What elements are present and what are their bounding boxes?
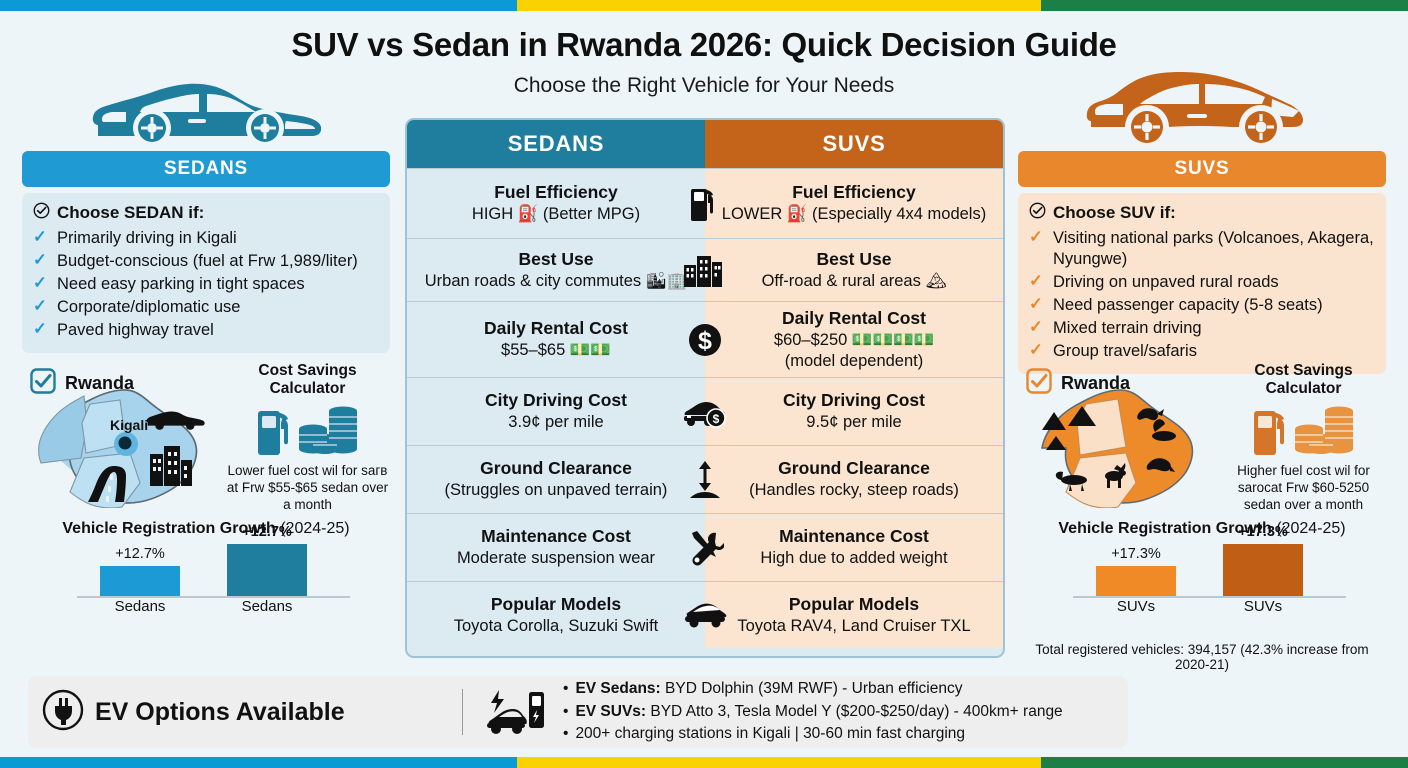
bar-value-label: +17.3% [1111, 546, 1161, 562]
ev-details-list: •EV Sedans: BYD Dolphin (39M RWF) - Urba… [563, 678, 1063, 747]
check-icon: ✓ [1029, 228, 1045, 248]
sedan-panel-body: Choose SEDAN if: ✓Primarily driving in K… [22, 193, 390, 353]
list-item: •200+ charging stations in Kigali | 30-6… [563, 723, 1063, 746]
table-cell-sedan: Best Use Urban roads & city commutes 🏙🏢 [407, 239, 705, 301]
table-cell-sedan: Maintenance Cost Moderate suspension wea… [407, 514, 705, 581]
ev-banner-divider [462, 689, 463, 735]
table-row: Fuel Efficiency HIGH ⛽ (Better MPG) Fuel… [407, 168, 1003, 238]
bullet-text: Primarily driving in Kigali [57, 228, 237, 249]
fuel-pump-icon [678, 180, 732, 228]
row-value: 9.5¢ per mile [806, 412, 901, 432]
row-label: Maintenance Cost [481, 526, 631, 547]
table-cell-suv: Maintenance Cost High due to added weigh… [705, 514, 1003, 581]
chart-title: Vehicle Registration Growth (2024-25) [1018, 520, 1386, 538]
calc-title-line1: Cost Savings [1221, 362, 1386, 380]
list-item: ✓Driving on unpaved rural roads [1029, 271, 1375, 294]
list-item: •EV SUVs: BYD Atto 3, Tesla Model Y ($20… [563, 701, 1063, 724]
suv-illustration [1018, 58, 1386, 151]
svg-text:$: $ [698, 327, 712, 355]
list-item: ✓Need easy parking in tight spaces [33, 273, 379, 296]
list-item: ✓Paved highway travel [33, 319, 379, 342]
table-row: City Driving Cost 3.9¢ per mile $ City D… [407, 377, 1003, 445]
bullet-text: Need easy parking in tight spaces [57, 274, 305, 295]
suv-choose-title: Choose SUV if: [1053, 203, 1176, 223]
sedan-registration-growth-chart: Vehicle Registration Growth (2024-25) +1… [22, 520, 390, 620]
row-value: $60–$250 💵💵💵💵 (model dependent) [774, 330, 934, 370]
calc-title-line2: Calculator [1221, 380, 1386, 398]
list-item: ✓Mixed terrain driving [1029, 317, 1375, 340]
row-value: Off-road & rural areas 🏔 [762, 271, 947, 291]
bullet-text: Visiting national parks (Volcanoes, Akag… [1053, 228, 1375, 270]
circle-check-icon [1029, 202, 1046, 224]
chart-plot-area: +17.3% SUVs +17.3% SUVs [1018, 542, 1386, 620]
table-cell-sedan: Ground Clearance (Struggles on unpaved t… [407, 446, 705, 513]
row-label: Daily Rental Cost [484, 318, 628, 339]
bullet-dot-icon: • [563, 678, 568, 701]
check-icon: ✓ [33, 251, 49, 271]
bullet-text: Group travel/safaris [1053, 341, 1197, 362]
bullet-dot-icon: • [563, 701, 568, 724]
check-icon: ✓ [1029, 341, 1045, 361]
check-icon: ✓ [1029, 295, 1045, 315]
check-icon: ✓ [1029, 318, 1045, 338]
table-cell-suv: Fuel Efficiency LOWER ⛽ (Especially 4x4 … [705, 169, 1003, 238]
row-label: Daily Rental Cost [782, 308, 926, 329]
bar-suvs-1: +17.3% SUVs [1096, 566, 1176, 596]
list-item: ✓Corporate/diplomatic use [33, 296, 379, 319]
table-row: Best Use Urban roads & city commutes 🏙🏢 … [407, 238, 1003, 301]
row-value: Toyota RAV4, Land Cruiser TXL [737, 616, 970, 636]
row-value: (Handles rocky, steep roads) [749, 480, 959, 500]
bar-suvs-2: +17.3% SUVs [1223, 544, 1303, 596]
list-item: •EV Sedans: BYD Dolphin (39M RWF) - Urba… [563, 678, 1063, 701]
ev-options-banner: EV Options Available •EV Sedans: BYD Dol… [28, 676, 1128, 748]
table-row: Popular Models Toyota Corolla, Suzuki Sw… [407, 581, 1003, 648]
flag-stripe-green [1041, 0, 1408, 11]
flag-stripe-yellow [517, 0, 1041, 11]
column-header-sedans: SEDANS [407, 120, 705, 168]
table-cell-sedan: City Driving Cost 3.9¢ per mile [407, 378, 705, 445]
ground-clearance-arrow-icon [678, 456, 732, 504]
row-label: Ground Clearance [480, 458, 632, 479]
table-cell-suv: Daily Rental Cost $60–$250 💵💵💵💵 (model d… [705, 302, 1003, 377]
bar-category-label: Sedans [115, 598, 166, 615]
table-cell-suv: Ground Clearance (Handles rocky, steep r… [705, 446, 1003, 513]
tools-icon [678, 524, 732, 572]
list-item: ✓Need passenger capacity (5-8 seats) [1029, 294, 1375, 317]
sedan-choose-heading: Choose SEDAN if: [33, 202, 379, 224]
suv-registration-growth-chart: Vehicle Registration Growth (2024-25) +1… [1018, 520, 1386, 672]
row-label: City Driving Cost [783, 390, 925, 411]
bar-value-label: +12.7% [242, 524, 292, 540]
bullet-dot-icon: • [563, 723, 568, 746]
fuel-pump-icon [256, 405, 296, 457]
row-label: Best Use [519, 249, 594, 270]
table-row: Maintenance Cost Moderate suspension wea… [407, 513, 1003, 581]
list-item: ✓Budget-conscious (fuel at Frw 1,989/lit… [33, 250, 379, 273]
row-value: (Struggles on unpaved terrain) [445, 480, 668, 500]
row-value: HIGH ⛽ (Better MPG) [472, 204, 640, 224]
comparison-table: SEDANS SUVS Fuel Efficiency HIGH ⛽ (Bett… [405, 118, 1005, 658]
svg-text:$: $ [713, 412, 720, 426]
chart-title: Vehicle Registration Growth (2024-25) [22, 520, 390, 538]
list-item: ✓Group travel/safaris [1029, 340, 1375, 363]
chart-footnote: Total registered vehicles: 394,157 (42.3… [1018, 642, 1386, 672]
circle-check-icon [33, 202, 50, 224]
bullet-text: Corporate/diplomatic use [57, 297, 240, 318]
table-header-row: SEDANS SUVS [407, 120, 1003, 168]
ev-line-text: BYD Dolphin (39M RWF) - Urban efficiency [661, 680, 963, 697]
infographic-canvas: SUV vs Sedan in Rwanda 2026: Quick Decis… [0, 0, 1408, 768]
table-cell-suv: Best Use Off-road & rural areas 🏔 [705, 239, 1003, 301]
row-value: LOWER ⛽ (Especially 4x4 models) [722, 204, 986, 224]
ev-line-text: 200+ charging stations in Kigali | 30-60… [575, 725, 965, 742]
table-cell-sedan: Fuel Efficiency HIGH ⛽ (Better MPG) [407, 169, 705, 238]
ev-plug-icon [42, 689, 84, 736]
table-cell-suv: City Driving Cost 9.5¢ per mile [705, 378, 1003, 445]
calc-icon-group [1221, 402, 1386, 460]
suv-bullet-list: ✓Visiting national parks (Volcanoes, Aka… [1029, 227, 1375, 363]
ev-line-label: EV SUVs: [575, 703, 646, 720]
table-cell-sedan: Daily Rental Cost $55–$65 💵💵 [407, 302, 705, 377]
sedan-illustration [22, 58, 390, 151]
bullet-text: Paved highway travel [57, 320, 214, 341]
bullet-text: Need passenger capacity (5-8 seats) [1053, 295, 1323, 316]
suv-cost-savings-calculator: Cost Savings Calculator [1221, 362, 1386, 513]
ev-line-text: BYD Atto 3, Tesla Model Y ($200-$250/day… [646, 703, 1063, 720]
sedan-map-calculator-block: Rwanda Kigali [22, 362, 390, 512]
row-value: Urban roads & city commutes 🏙🏢 [425, 271, 688, 291]
ev-banner-title: EV Options Available [95, 698, 345, 727]
ev-banner-title-group: EV Options Available [42, 689, 462, 736]
bar-category-label: SUVs [1117, 598, 1155, 615]
row-label: Maintenance Cost [779, 526, 929, 547]
bar-category-label: Sedans [242, 598, 293, 615]
flag-stripe-blue [0, 757, 517, 768]
bar-value-label: +17.3% [1238, 524, 1288, 540]
suv-panel-header: SUVS [1018, 151, 1386, 187]
bullet-text: Driving on unpaved rural roads [1053, 272, 1279, 293]
bar-sedans-2: +12.7% Sedans [227, 544, 307, 596]
row-value: $55–$65 💵💵 [501, 340, 611, 360]
dollar-coin-icon: $ [678, 316, 732, 364]
coin-stack-icon [1294, 405, 1356, 457]
row-label: Fuel Efficiency [494, 182, 618, 203]
bar-category-label: SUVs [1244, 598, 1282, 615]
row-label: City Driving Cost [485, 390, 627, 411]
sedan-panel-header: SEDANS [22, 151, 390, 187]
coin-stack-icon [298, 405, 360, 457]
city-buildings-icon [678, 246, 732, 294]
check-icon: ✓ [33, 274, 49, 294]
car-icon [678, 591, 732, 639]
calc-title-line2: Calculator [225, 380, 390, 398]
list-item: ✓Primarily driving in Kigali [33, 227, 379, 250]
suv-map-calculator-block: Rwanda [1018, 362, 1386, 512]
list-item: ✓Visiting national parks (Volcanoes, Aka… [1029, 227, 1375, 271]
bar-sedans-1: +12.7% Sedans [100, 566, 180, 596]
bullet-text: Budget-conscious (fuel at Frw 1,989/lite… [57, 251, 358, 272]
flag-stripe-yellow [517, 757, 1041, 768]
flag-stripe-green [1041, 757, 1408, 768]
flag-stripe-blue [0, 0, 517, 11]
check-icon: ✓ [33, 320, 49, 340]
row-value: High due to added weight [760, 548, 947, 568]
ev-line-label: EV Sedans: [575, 680, 660, 697]
table-cell-suv: Popular Models Toyota RAV4, Land Cruiser… [705, 582, 1003, 648]
chart-axis-line [1073, 596, 1346, 598]
rwanda-flag-bar-bottom [0, 757, 1408, 768]
rwanda-map-sedan: Kigali [28, 384, 218, 513]
bullet-text: Mixed terrain driving [1053, 318, 1202, 339]
suv-calc-note: Higher fuel cost wil for saroсat Frw $60… [1221, 462, 1386, 513]
sedan-panel: SEDANS Choose SEDAN if: ✓Primarily drivi… [22, 58, 390, 353]
suv-choose-heading: Choose SUV if: [1029, 202, 1375, 224]
car-dollar-icon: $ [678, 388, 732, 436]
sedan-cost-savings-calculator: Cost Savings Calculator [225, 362, 390, 513]
chart-plot-area: +12.7% Sedans +12.7% Sedans [22, 542, 390, 620]
row-value: 3.9¢ per mile [508, 412, 603, 432]
table-row: Ground Clearance (Struggles on unpaved t… [407, 445, 1003, 513]
rwanda-map-suv [1024, 384, 1214, 513]
row-label: Popular Models [789, 594, 919, 615]
rwanda-flag-bar-top [0, 0, 1408, 11]
sedan-bullet-list: ✓Primarily driving in Kigali ✓Budget-con… [33, 227, 379, 342]
fuel-pump-icon [1252, 405, 1292, 457]
table-cell-sedan: Popular Models Toyota Corolla, Suzuki Sw… [407, 582, 705, 648]
calc-icon-group [225, 402, 390, 460]
row-label: Fuel Efficiency [792, 182, 916, 203]
suv-panel-body: Choose SUV if: ✓Visiting national parks … [1018, 193, 1386, 374]
row-label: Popular Models [491, 594, 621, 615]
bar-value-label: +12.7% [115, 546, 165, 562]
calc-title-line1: Cost Savings [225, 362, 390, 380]
column-header-suvs: SUVS [705, 120, 1003, 168]
check-icon: ✓ [33, 297, 49, 317]
row-value: Moderate suspension wear [457, 548, 655, 568]
ev-charging-car-icon [485, 684, 547, 741]
sedan-calc-note: Lower fuel cost wil for saгв at Frw $55-… [225, 462, 390, 513]
row-label: Best Use [817, 249, 892, 270]
check-icon: ✓ [33, 228, 49, 248]
check-icon: ✓ [1029, 272, 1045, 292]
suv-panel: SUVS Choose SUV if: ✓Visiting national p… [1018, 58, 1386, 374]
row-value: Toyota Corolla, Suzuki Swift [454, 616, 659, 636]
row-label: Ground Clearance [778, 458, 930, 479]
sedan-choose-title: Choose SEDAN if: [57, 203, 204, 223]
svg-text:Kigali: Kigali [110, 417, 148, 433]
table-row: Daily Rental Cost $55–$65 💵💵 $ Daily Ren… [407, 301, 1003, 377]
